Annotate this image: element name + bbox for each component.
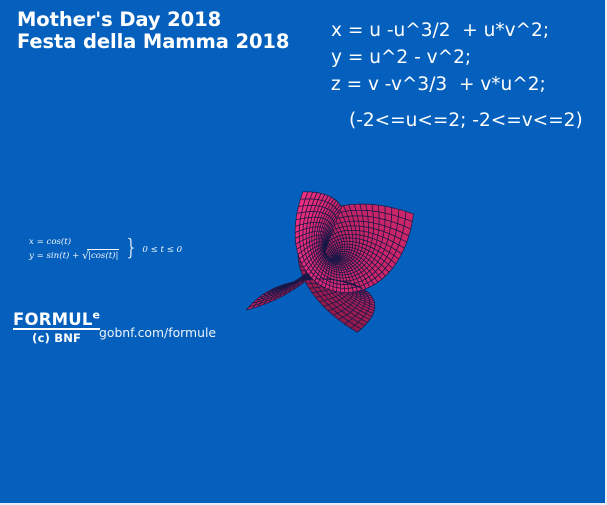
side-formula-y-prefix: y = sin(t) + (29, 251, 82, 261)
equation-z: z = v -v^3/3 + v*u^2; (331, 71, 549, 98)
side-formula-x: x = cos(t) (29, 236, 119, 249)
parameter-range-label: (-2<=u<=2; -2<=v<=2) (349, 110, 583, 131)
formule-logo[interactable]: FORMULe (c) BNF gobnf.com/formule (13, 311, 100, 346)
equation-y: y = u^2 - v^2; (331, 44, 549, 71)
logo-url[interactable]: gobnf.com/formule (99, 325, 216, 340)
side-formula-y: y = sin(t) + √|cos(t)| (29, 249, 119, 263)
radical-group: √|cos(t)| (82, 249, 119, 263)
equation-block: x = u -u^3/2 + u*v^2; y = u^2 - v^2; z =… (331, 17, 549, 99)
logo-copyright: (c) BNF (13, 331, 100, 345)
side-formula-condition: 0 ≤ t ≤ 0 (142, 245, 182, 255)
curly-brace-icon: } (127, 240, 135, 259)
page-title: Mother's Day 2018 Festa della Mamma 2018 (17, 9, 289, 53)
logo-word-superscript: e (93, 309, 101, 322)
title-line-english: Mother's Day 2018 (17, 9, 289, 31)
title-line-italian: Festa della Mamma 2018 (17, 31, 289, 53)
logo-word-main: FORMUL (13, 310, 93, 329)
radical-body: |cos(t)| (87, 249, 119, 263)
logo-wordmark: FORMULe (13, 311, 100, 330)
side-formula-block: x = cos(t) y = sin(t) + √|cos(t)| } 0 ≤ … (29, 236, 182, 264)
mothers-day-surface-plot-image: Mother's Day 2018 Festa della Mamma 2018… (0, 0, 607, 505)
square-root-icon: √ (82, 250, 89, 261)
equation-x: x = u -u^3/2 + u*v^2; (331, 17, 549, 44)
side-formula-rows: x = cos(t) y = sin(t) + √|cos(t)| (29, 236, 119, 264)
logo-mark: FORMULe (c) BNF (13, 311, 100, 345)
